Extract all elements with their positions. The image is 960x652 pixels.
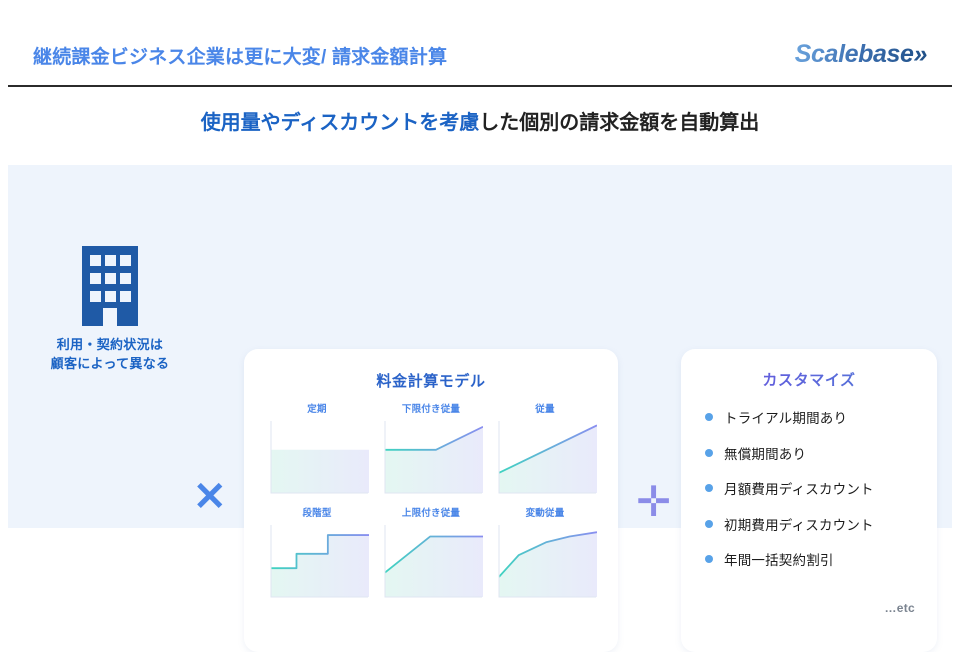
pricing-model-chart-label: 上限付き従量 <box>379 505 483 519</box>
pricing-model-chart-1: 定期 <box>265 401 369 495</box>
customer-block: 利用・契約状況は 顧客によって異なる <box>30 240 190 374</box>
bullet-icon <box>705 555 713 563</box>
pricing-model-chart-plot <box>379 523 483 599</box>
bullet-icon <box>705 484 713 492</box>
pricing-model-chart-plot <box>493 419 597 495</box>
pricing-models-title: 料金計算モデル <box>244 370 618 391</box>
customize-option-label: 年間一括契約割引 <box>724 549 834 569</box>
customer-caption: 利用・契約状況は 顧客によって異なる <box>30 336 190 374</box>
pricing-model-chart-5: 上限付き従量 <box>379 505 483 599</box>
customize-option-label: 月額費用ディスカウント <box>724 478 874 498</box>
plus-operator-icon: ✛ <box>636 481 671 523</box>
pricing-model-chart-label: 変動従量 <box>493 505 597 519</box>
pricing-models-card: 料金計算モデル 定期下限付き従量従量段階型上限付き従量変動従量 <box>244 349 618 652</box>
customize-option-list: トライアル期間あり無償期間あり月額費用ディスカウント初期費用ディスカウント年間一… <box>705 407 920 585</box>
customize-option-label: 無償期間あり <box>724 443 806 463</box>
bullet-icon <box>705 449 713 457</box>
subtitle-highlight: 使用量やディスカウントを考慮 <box>201 112 480 134</box>
pricing-model-chart-2: 下限付き従量 <box>379 401 483 495</box>
pricing-model-chart-plot <box>493 523 597 599</box>
pricing-model-chart-plot <box>265 523 369 599</box>
pricing-model-chart-3: 従量 <box>493 401 597 495</box>
multiply-operator-icon: ✕ <box>193 477 227 517</box>
page-title: 継続課金ビジネス企業は更に大変/ 請求金額計算 <box>33 42 447 69</box>
customize-option-item: 月額費用ディスカウント <box>705 478 920 498</box>
content-panel: 利用・契約状況は 顧客によって異なる ✕ ✛ 料金計算モデル 定期下限付き従量従… <box>8 165 952 528</box>
pricing-model-chart-label: 下限付き従量 <box>379 401 483 415</box>
scalebase-logo: Scalebase» <box>795 40 927 69</box>
pricing-model-chart-label: 段階型 <box>265 505 369 519</box>
pricing-model-chart-plot <box>265 419 369 495</box>
customize-option-item: 無償期間あり <box>705 443 920 463</box>
bullet-icon <box>705 413 713 421</box>
customize-option-label: 初期費用ディスカウント <box>724 514 874 534</box>
etc-note: …etc <box>884 601 915 615</box>
subtitle: 使用量やディスカウントを考慮した個別の請求金額を自動算出 <box>0 106 960 135</box>
pricing-model-chart-grid: 定期下限付き従量従量段階型上限付き従量変動従量 <box>265 401 597 599</box>
office-building-icon <box>77 240 143 326</box>
subtitle-rest: した個別の請求金額を自動算出 <box>479 112 759 134</box>
page-header: 継続課金ビジネス企業は更に大変/ 請求金額計算 Scalebase» <box>0 0 960 86</box>
customize-option-item: 初期費用ディスカウント <box>705 514 920 534</box>
pricing-model-chart-label: 定期 <box>265 401 369 415</box>
customize-title: カスタマイズ <box>681 369 937 390</box>
header-divider <box>8 85 952 87</box>
pricing-model-chart-label: 従量 <box>493 401 597 415</box>
customize-card: カスタマイズ トライアル期間あり無償期間あり月額費用ディスカウント初期費用ディス… <box>681 349 937 652</box>
bullet-icon <box>705 520 713 528</box>
pricing-model-chart-4: 段階型 <box>265 505 369 599</box>
customize-option-item: トライアル期間あり <box>705 407 920 427</box>
customer-caption-line1: 利用・契約状況は <box>57 337 163 352</box>
customize-option-label: トライアル期間あり <box>724 407 847 427</box>
pricing-model-chart-plot <box>379 419 483 495</box>
pricing-model-chart-6: 変動従量 <box>493 505 597 599</box>
customize-option-item: 年間一括契約割引 <box>705 549 920 569</box>
customer-caption-line2: 顧客によって異なる <box>51 356 170 371</box>
